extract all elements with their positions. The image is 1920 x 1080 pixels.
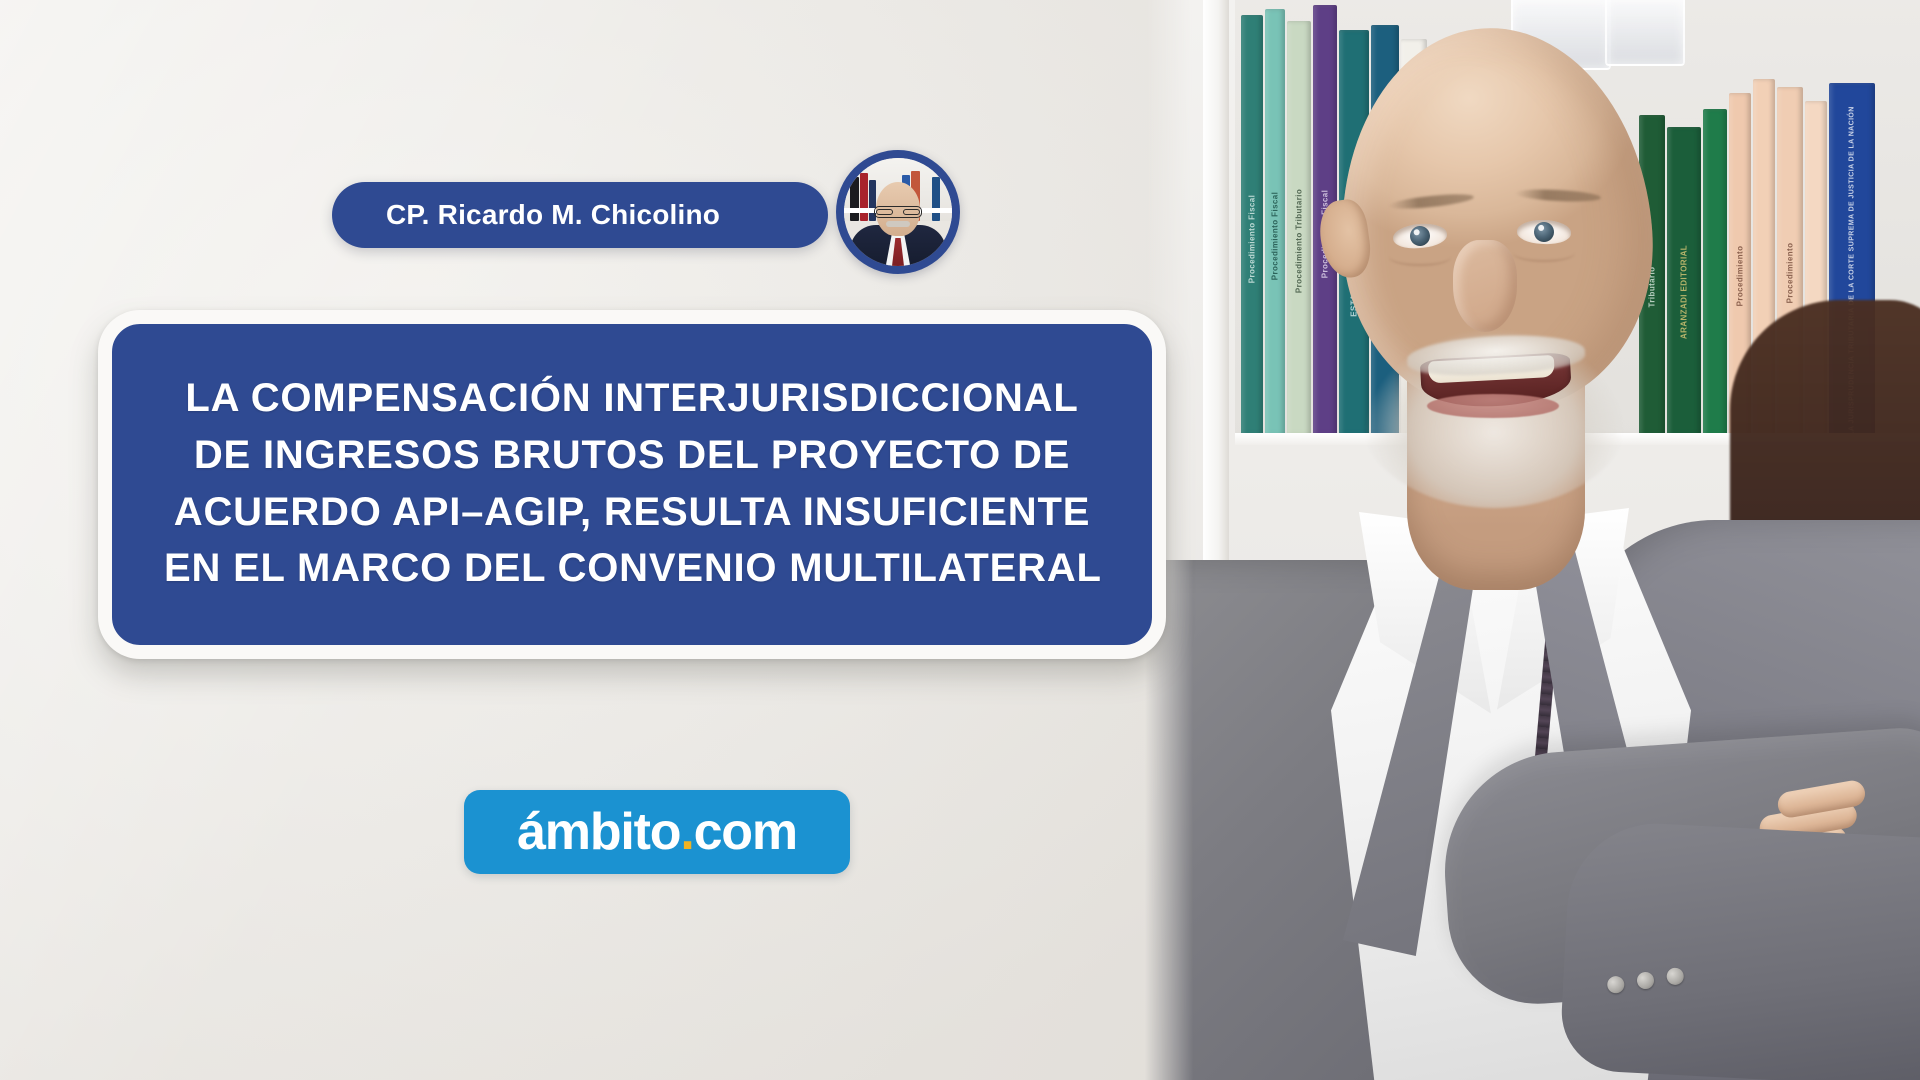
headline-container: LA COMPENSACIÓN INTERJURISDICCIONAL DE I… [98,310,1166,659]
logo-text: ámbito.com [517,806,797,858]
ambito-logo[interactable]: ámbito.com [464,790,850,874]
headline-line: ACUERDO API–AGIP, RESULTA INSUFICIENTE [164,484,1100,541]
avatar-book [850,177,859,220]
glasses-icon [874,206,922,218]
headline-line: EN EL MARCO DEL CONVENIO MULTILATERAL [164,540,1100,597]
under-eye-right [1513,244,1575,262]
lower-lip [1427,394,1559,418]
news-card-canvas: Procedimiento Fiscal Procedimiento Fisca… [0,0,1920,1080]
avatar-mustache [886,221,910,227]
headline-line: DE INGRESOS BRUTOS DEL PROYECTO DE [164,427,1100,484]
crossed-arm-lower [1559,819,1920,1080]
logo-tld: com [694,806,797,858]
subject-photo: Procedimiento Fiscal Procedimiento Fisca… [1145,0,1920,1080]
avatar [836,150,960,274]
under-eye-left [1389,248,1451,266]
avatar-book [932,177,940,220]
byline-pill: CP. Ricardo M. Chicolino [332,182,828,248]
iris [1409,226,1431,248]
avatar-book [860,173,868,221]
logo-brand: ámbito [517,806,680,858]
subject-figure [1145,0,1920,1080]
photo-feather-mask: Procedimiento Fiscal Procedimiento Fisca… [1145,0,1920,1080]
logo-dot: . [680,806,693,858]
avatar-image [844,158,952,266]
headline-line: LA COMPENSACIÓN INTERJURISDICCIONAL [164,370,1100,427]
iris [1534,222,1555,243]
headline-card: LA COMPENSACIÓN INTERJURISDICCIONAL DE I… [98,310,1166,659]
byline-name: CP. Ricardo M. Chicolino [386,199,720,231]
